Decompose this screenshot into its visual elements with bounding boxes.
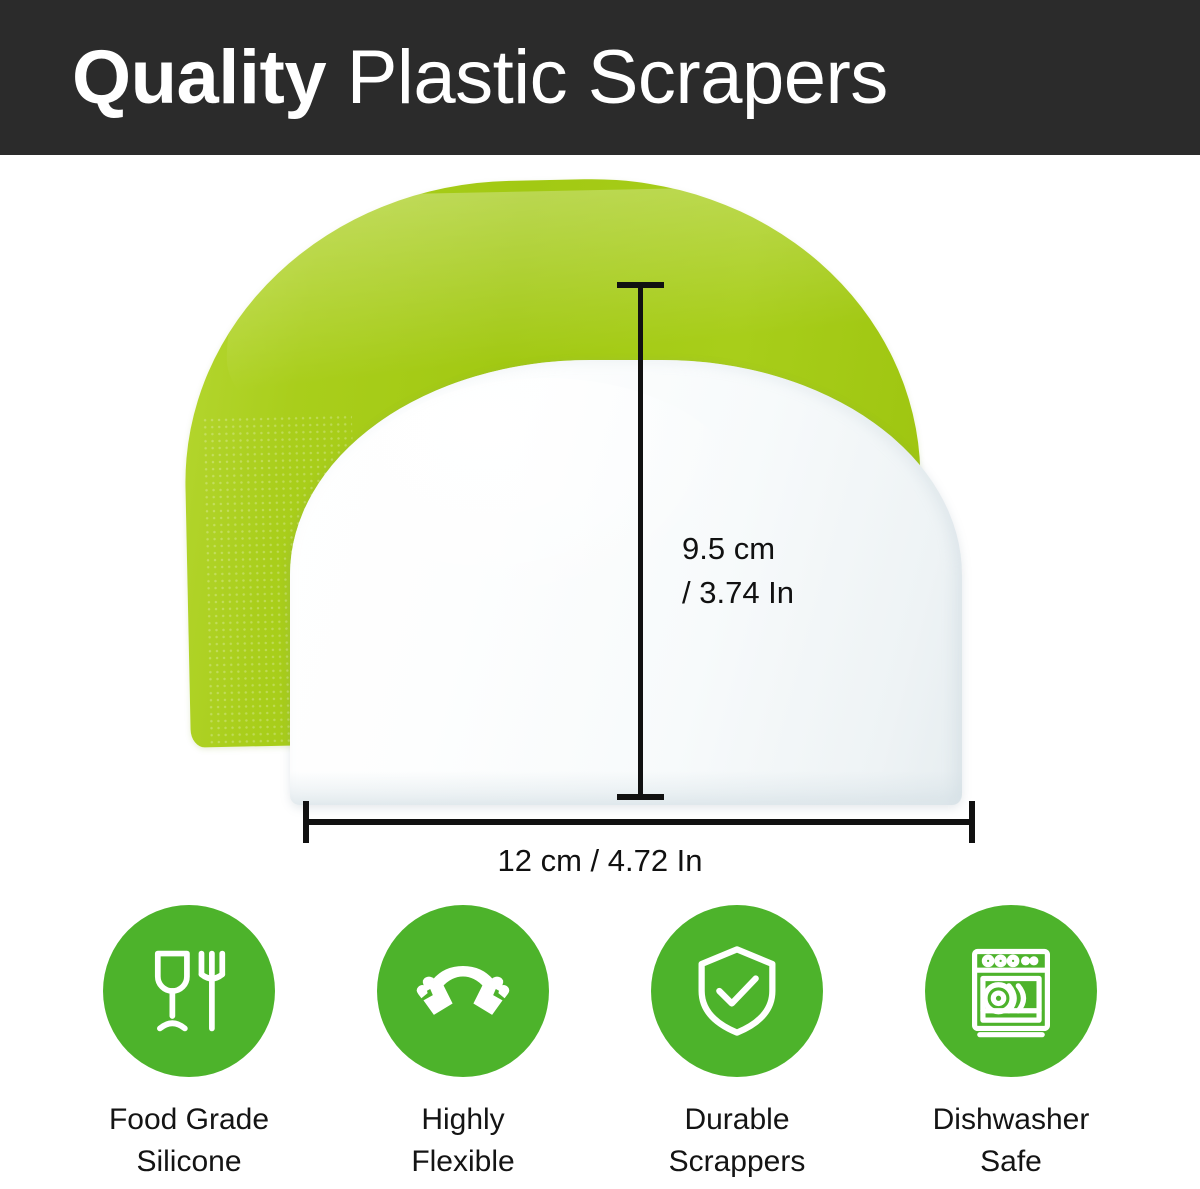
header-banner: Quality Plastic Scrapers bbox=[0, 0, 1200, 155]
feature-circle bbox=[651, 905, 823, 1077]
page-title: Quality Plastic Scrapers bbox=[72, 40, 888, 116]
page-title-light: Plastic Scrapers bbox=[326, 35, 888, 120]
vertical-dimension-label: 9.5 cm / 3.74 In bbox=[682, 527, 794, 615]
page-title-strong: Quality bbox=[72, 35, 326, 120]
feature-item-dishwasher-safe: Dishwasher Safe bbox=[880, 905, 1142, 1189]
feature-label: Dishwasher Safe bbox=[933, 1099, 1090, 1183]
dishwasher-icon bbox=[959, 939, 1063, 1043]
feature-label: Highly Flexible bbox=[411, 1099, 514, 1183]
food-safe-glass-fork-icon bbox=[137, 939, 241, 1043]
vertical-dimension-cap-top bbox=[617, 282, 664, 288]
flexible-bending-hands-icon bbox=[411, 939, 515, 1043]
feature-row: Food Grade Silicone Highly Flexible bbox=[0, 905, 1200, 1189]
product-image-stage: 9.5 cm / 3.74 In 12 cm / 4.72 In bbox=[0, 155, 1200, 900]
feature-item-food-grade: Food Grade Silicone bbox=[58, 905, 320, 1189]
vertical-dimension-line bbox=[638, 285, 643, 800]
feature-label: Durable Scrappers bbox=[669, 1099, 806, 1183]
shield-check-icon bbox=[685, 939, 789, 1043]
vertical-dimension-cap-bottom bbox=[617, 794, 664, 800]
horizontal-dimension-line bbox=[303, 819, 975, 825]
feature-item-highly-flexible: Highly Flexible bbox=[332, 905, 594, 1189]
white-scraper bbox=[290, 360, 962, 805]
feature-label: Food Grade Silicone bbox=[109, 1099, 269, 1183]
vertical-dimension-in: / 3.74 In bbox=[682, 571, 794, 615]
vertical-dimension-cm: 9.5 cm bbox=[682, 527, 794, 571]
horizontal-dimension-cap-right bbox=[969, 801, 975, 843]
feature-circle bbox=[103, 905, 275, 1077]
feature-circle bbox=[377, 905, 549, 1077]
horizontal-dimension-cap-left bbox=[303, 801, 309, 843]
horizontal-dimension-label: 12 cm / 4.72 In bbox=[0, 843, 1200, 879]
feature-item-durable: Durable Scrappers bbox=[606, 905, 868, 1189]
feature-circle bbox=[925, 905, 1097, 1077]
